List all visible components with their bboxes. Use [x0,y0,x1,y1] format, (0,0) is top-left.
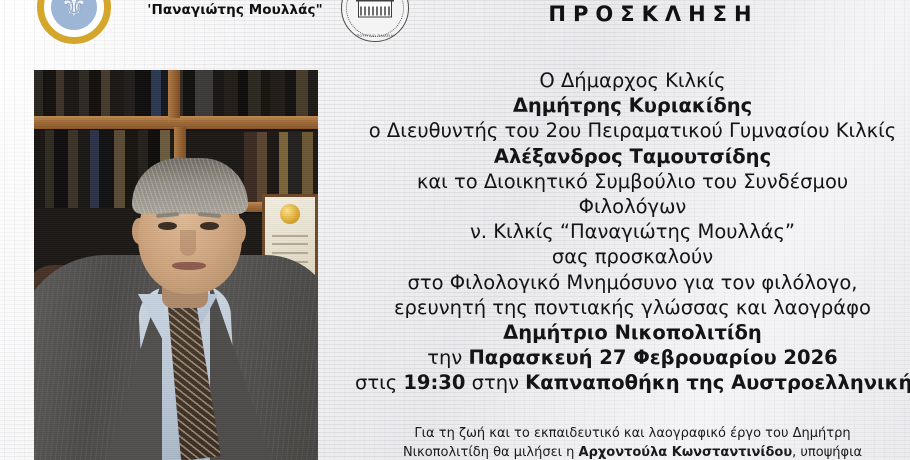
speaker-name: Αρχοντούλα Κωνσταντινίδου [579,445,793,460]
collar-left [138,294,164,342]
invitation-text-block: Ο Δήμαρχος Κιλκίς Δημήτρης Κυριακίδης ο … [355,68,910,396]
invite-line-1: Ο Δήμαρχος Κιλκίς [355,68,910,93]
invite-line-4: Αλέξανδρος Ταμουτσίδης [355,144,910,169]
footnote-line-1: Για τη ζωή και το εκπαιδευτικό και λαογρ… [355,424,910,443]
invite-line-7: ν. Κιλκίς “Παναγιώτης Μουλλάς” [355,219,910,244]
association-name-label: 'Παναγιώτης Μουλλάς" [120,2,350,18]
nose [180,230,196,256]
lapel-right [210,280,272,460]
invite-line-5: και το Διοικητικό Συμβούλιο του Συνδέσμο… [355,169,910,194]
venue-connector: στην [465,371,525,394]
invite-line-3: ο Διευθυντής του 2ου Πειραματικού Γυμνασ… [355,118,910,143]
school-seal-icon: 2ο ΠΕΙΡΑΜΑΤΙΚΟ ΓΥΜΝΑΣΙΟ ΚΙΛΚΙΣ ΥΠΟΥΡΓΕΙΟ… [341,0,409,42]
invite-line-2: Δημήτρης Κυριακίδης [355,93,910,118]
invite-time-venue-line: στις 19:30 στην Καπναποθήκη της Αυστροελ… [355,370,910,395]
page-title: ΠΡΟΣΚΛΗΣΗ [430,2,870,26]
venue-name: Καπναποθήκη της Αυστροελληνικής [525,371,910,394]
poster-header: ⚜ 'Παναγιώτης Μουλλάς" 2ο ΠΕΙΡΑΜΑΤΙΚΟ ΓΥ… [0,0,910,58]
association-emblem-icon: ⚜ [37,0,111,44]
eye-right [200,222,219,230]
invite-line-9: στο Φιλολογικό Μνημόσυνο για τον φιλόλογ… [355,270,910,295]
invite-line-10: ερευνητή της ποντιακής γλώσσας και λαογρ… [355,295,910,320]
seal-bottom-text: ΥΠΟΥΡΓΕΙΟ ΠΑΙΔΕΙΑΣ [342,34,408,38]
invite-date-line: την Παρασκευή 27 Φεβρουαρίου 2026 [355,345,910,370]
footnote-line-2: Νικοπολιτίδη θα μιλήσει η Αρχοντούλα Κων… [355,443,910,460]
footnote-suffix: , υποψήφια [792,445,862,460]
invite-line-6: Φιλολόγων [355,194,910,219]
footnote-prefix: Νικοπολιτίδη θα μιλήσει η [403,445,579,460]
invite-honoree-name: Δημήτριο Νικοπολιτίδη [355,320,910,345]
eye-left [158,222,177,230]
footnote-block: Για τη ζωή και το εκπαιδευτικό και λαογρ… [355,424,910,460]
mouth [172,262,206,270]
invite-line-8: σας προσκαλούν [355,244,910,269]
date-prefix: την [427,346,468,369]
time-value: 19:30 [403,371,465,394]
date-value: Παρασκευή 27 Φεβρουαρίου 2026 [468,346,837,369]
emblem-glyph: ⚜ [44,0,104,37]
person-figure [34,70,318,460]
seal-building-icon [358,1,392,18]
invitation-poster: ⚜ 'Παναγιώτης Μουλλάς" 2ο ΠΕΙΡΑΜΑΤΙΚΟ ΓΥ… [0,0,910,460]
time-prefix: στις [355,371,403,394]
hair [132,158,248,214]
portrait-photo [34,70,318,460]
